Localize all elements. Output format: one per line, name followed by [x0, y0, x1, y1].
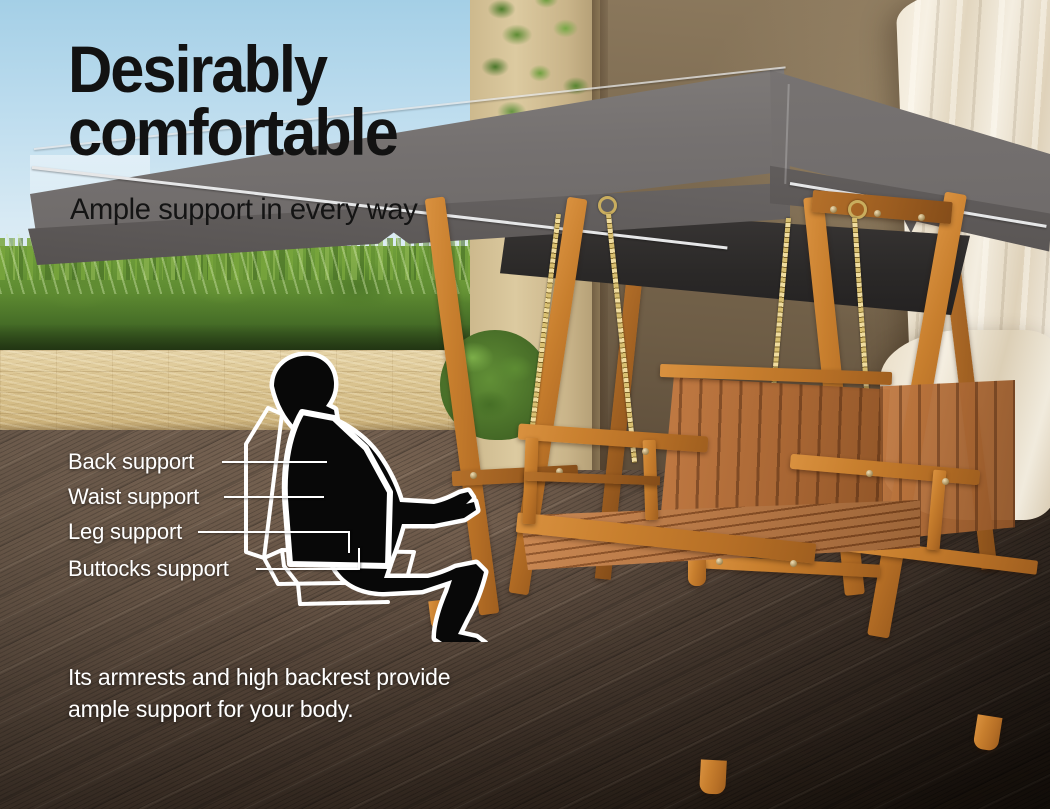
leader-line-leg-support-drop: [348, 531, 350, 553]
caption-line-1: Its armrests and high backrest provide: [68, 662, 450, 694]
leader-line-leg-support: [198, 531, 350, 533]
product-marketing-image: Desirably comfortable Ample support in e…: [0, 0, 1050, 809]
screw-right-b: [874, 210, 881, 217]
leader-line-buttocks-support: [256, 568, 360, 570]
leader-line-back-support: [222, 461, 327, 463]
caption-text: Its armrests and high backrest provide a…: [68, 662, 450, 725]
swing-foot-center: [699, 759, 727, 794]
screw-right-a: [830, 206, 837, 213]
annotation-label-back-support: Back support: [68, 449, 194, 475]
screw-arm-right-b: [866, 470, 873, 477]
page-title: Desirably comfortable: [68, 38, 589, 165]
screw-seat-a: [716, 558, 723, 565]
leader-line-waist-support: [224, 496, 324, 498]
subheadline: Ample support in every way: [70, 193, 417, 227]
screw-arm-left: [642, 448, 649, 455]
annotation-label-buttocks-support: Buttocks support: [68, 556, 229, 582]
swing-foot-rear: [688, 560, 706, 586]
annotation-label-waist-support: Waist support: [68, 484, 199, 510]
leader-line-buttocks-support-rise: [358, 548, 360, 569]
annotation-label-leg-support: Leg support: [68, 519, 182, 545]
screw-right-c: [918, 214, 925, 221]
eyebolt-right: [848, 200, 867, 219]
screw-arm-right: [942, 478, 949, 485]
headline-line-2: comfortable: [68, 101, 589, 164]
screw-seat-b: [790, 560, 797, 567]
eyebolt-left: [598, 196, 617, 215]
caption-line-2: ample support for your body.: [68, 694, 450, 726]
